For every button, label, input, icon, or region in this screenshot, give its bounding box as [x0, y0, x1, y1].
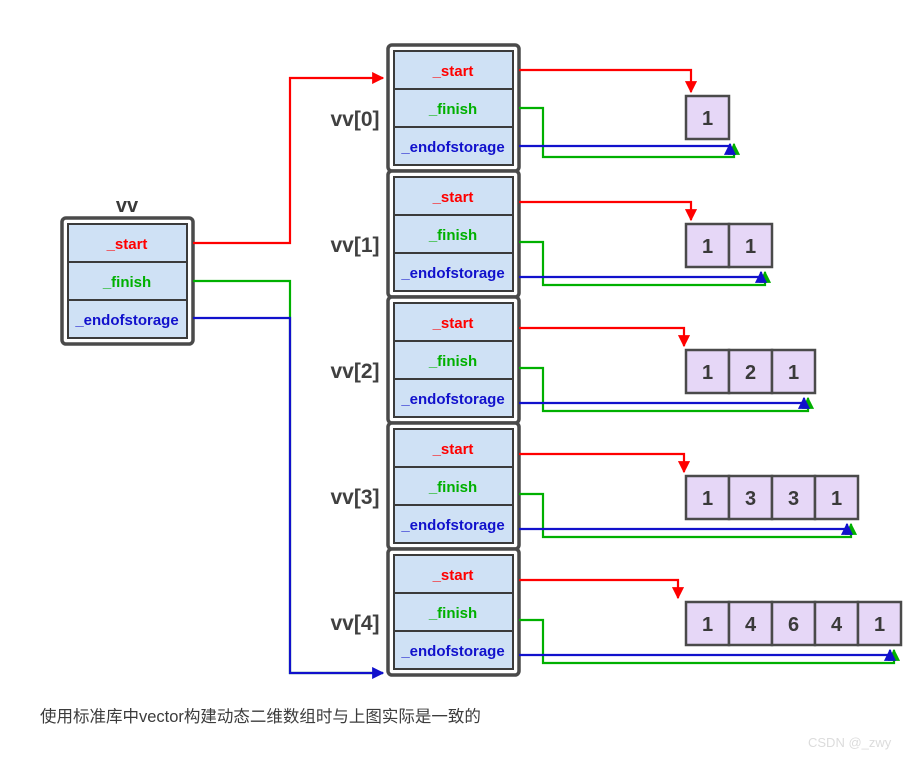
element-endofstorage-arrow-4	[519, 650, 890, 655]
element-start-arrow-2	[519, 328, 684, 346]
array-cell-value: 1	[788, 362, 799, 384]
element-start-label-4: _start	[432, 567, 474, 584]
vector-of-vector-diagram: vv _start _finish _endofstorage vv[0] _s…	[0, 0, 910, 760]
element-endofstorage-label-4: _endofstorage	[400, 643, 504, 660]
array-cell-value: 1	[702, 236, 713, 258]
outer-start-pointer-line	[193, 78, 383, 243]
element-endofstorage-label-2: _endofstorage	[400, 391, 504, 408]
element-label-0: vv[0]	[330, 108, 379, 131]
element-finish-label-1: _finish	[428, 227, 477, 244]
element-endofstorage-arrow-3	[519, 524, 847, 529]
element-start-label-2: _start	[432, 315, 474, 332]
element-label-1: vv[1]	[330, 234, 379, 257]
element-array-1: 1 1	[686, 224, 772, 267]
array-cell-value: 2	[745, 362, 756, 384]
element-start-label-0: _start	[432, 63, 474, 80]
outer-field-start-label: _start	[106, 236, 148, 253]
outer-field-finish-label: _finish	[102, 274, 151, 291]
element-finish-label-4: _finish	[428, 605, 477, 622]
element-label-2: vv[2]	[330, 360, 379, 383]
diagram-page: vv _start _finish _endofstorage vv[0] _s…	[0, 0, 910, 760]
element-start-arrow-1	[519, 202, 691, 220]
element-array-2: 1 2 1	[686, 350, 815, 393]
element-start-label-3: _start	[432, 441, 474, 458]
element-block-2: vv[2] _start _finish _endofstorage 1 2 1	[330, 297, 815, 423]
element-start-arrow-4	[519, 580, 678, 598]
element-finish-label-3: _finish	[428, 479, 477, 496]
array-cell-value: 1	[702, 614, 713, 636]
element-start-arrow-0	[519, 70, 691, 92]
element-endofstorage-label-3: _endofstorage	[400, 517, 504, 534]
array-cell-value: 4	[745, 614, 757, 636]
element-endofstorage-label-1: _endofstorage	[400, 265, 504, 282]
element-start-arrow-3	[519, 454, 684, 472]
figure-caption: 使用标准库中vector构建动态二维数组时与上图实际是一致的	[40, 703, 481, 727]
element-endofstorage-arrow-0	[519, 144, 730, 146]
array-cell-value: 1	[702, 108, 713, 130]
outer-vector-struct: vv _start _finish _endofstorage	[62, 195, 193, 344]
element-finish-label-2: _finish	[428, 353, 477, 370]
element-block-0: vv[0] _start _finish _endofstorage 1	[330, 45, 734, 171]
array-cell-value: 4	[831, 614, 843, 636]
array-cell-value: 1	[745, 236, 756, 258]
array-cell-value: 1	[702, 362, 713, 384]
element-array-0: 1	[686, 96, 729, 139]
array-cell-value: 3	[745, 488, 756, 510]
element-endofstorage-label-0: _endofstorage	[400, 139, 504, 156]
watermark: CSDN @_zwy	[808, 735, 891, 750]
element-label-3: vv[3]	[330, 486, 379, 509]
element-label-4: vv[4]	[330, 612, 379, 635]
array-cell-value: 6	[788, 614, 799, 636]
array-cell-value: 3	[788, 488, 799, 510]
element-endofstorage-arrow-2	[519, 398, 804, 403]
element-block-1: vv[1] _start _finish _endofstorage 1 1	[330, 171, 772, 297]
element-finish-label-0: _finish	[428, 101, 477, 118]
array-cell-value: 1	[874, 614, 885, 636]
outer-vector-label: vv	[116, 195, 139, 217]
element-array-4: 1 4 6 4 1	[686, 602, 901, 645]
element-block-3: vv[3] _start _finish _endofstorage 1 3 3…	[330, 423, 858, 549]
element-block-4: vv[4] _start _finish _endofstorage 1 4 6…	[330, 549, 901, 675]
element-start-label-1: _start	[432, 189, 474, 206]
array-cell-value: 1	[831, 488, 842, 510]
element-array-3: 1 3 3 1	[686, 476, 858, 519]
array-cell-value: 1	[702, 488, 713, 510]
outer-field-endofstorage-label: _endofstorage	[74, 312, 178, 329]
element-endofstorage-arrow-1	[519, 272, 761, 277]
